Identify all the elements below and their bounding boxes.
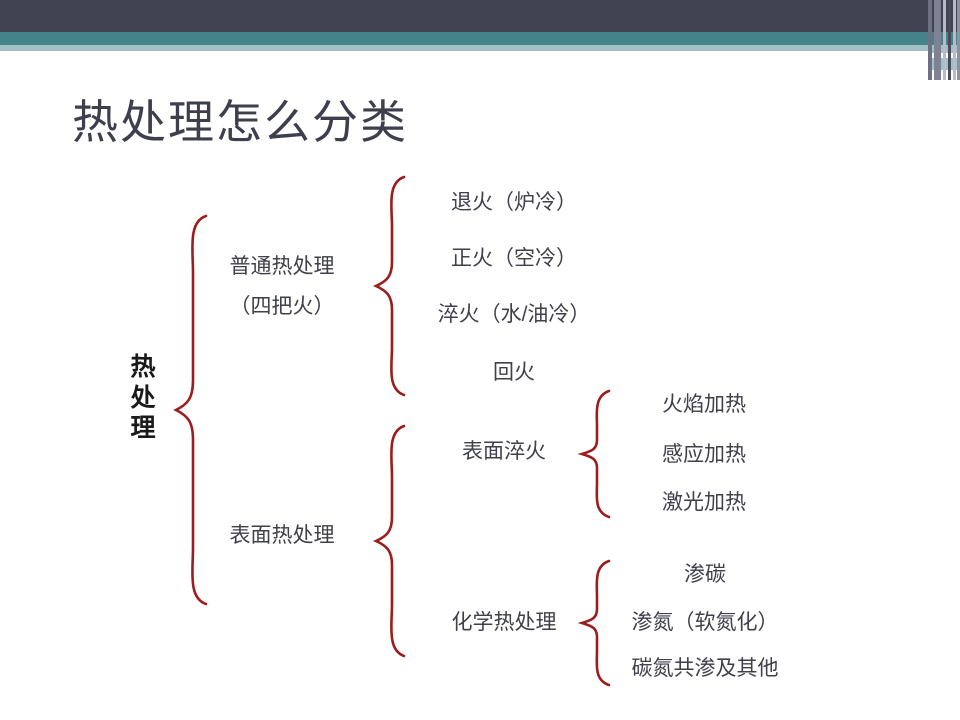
brace-common-heat-treatment [376, 177, 404, 395]
brace-surface-quenching [582, 391, 609, 517]
leaf-normalizing: 正火（空冷） [424, 244, 604, 274]
leaf-nitriding: 渗氮（软氮化） [608, 608, 802, 638]
leaf-quenching: 淬火（水/油冷） [412, 300, 616, 330]
node-common-heat-treatment-line2: （四把火） [218, 292, 346, 322]
leaf-carbonitriding: 碳氮共渗及其他 [602, 654, 808, 684]
leaf-laser-heating: 激光加热 [630, 488, 778, 518]
classification-diagram: 热处理 普通热处理 （四把火） 表面热处理 退火（炉冷） 正火（空冷） 淬火（水… [0, 0, 960, 720]
leaf-flame-heating: 火焰加热 [630, 390, 778, 420]
leaf-annealing: 退火（炉冷） [424, 188, 604, 218]
node-surface-heat-treatment: 表面热处理 [218, 521, 346, 551]
leaf-carburizing: 渗碳 [614, 560, 796, 590]
leaf-induction-heating: 感应加热 [630, 440, 778, 470]
node-common-heat-treatment-line1: 普通热处理 [218, 252, 346, 282]
node-root: 热处理 [128, 352, 158, 444]
brace-root [176, 216, 206, 604]
leaf-tempering: 回火 [424, 358, 604, 388]
brace-surface-heat-treatment [376, 426, 404, 656]
node-surface-quenching: 表面淬火 [434, 437, 574, 467]
node-chemical-heat-treatment: 化学热处理 [426, 608, 582, 638]
